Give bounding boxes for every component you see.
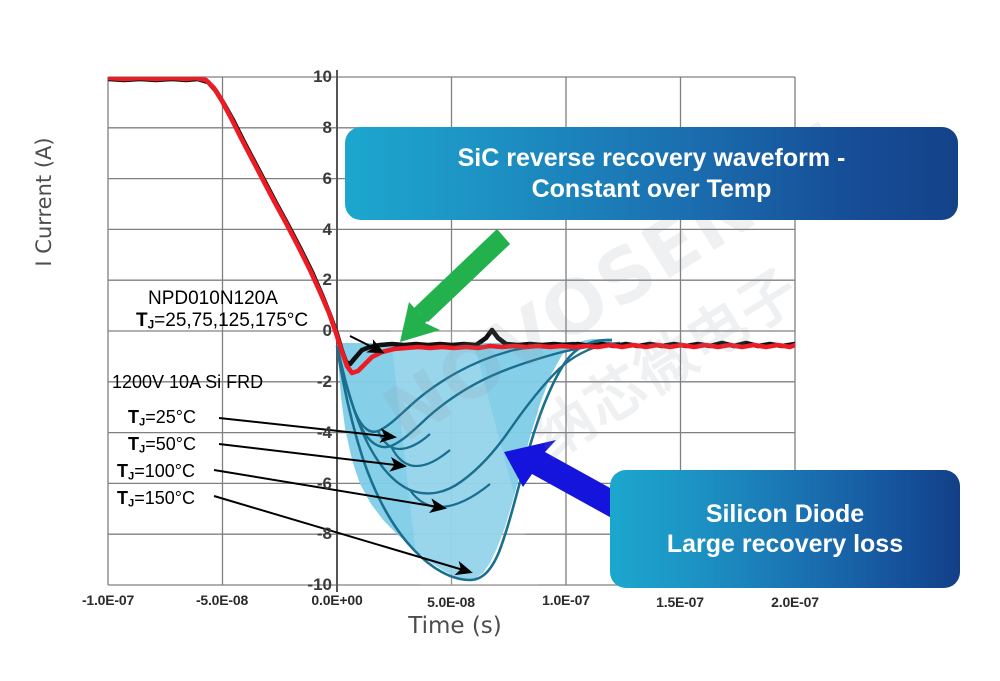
x-tick-1_5e-7: 1.5E-07 <box>620 594 740 610</box>
x-tick-5e-8: 5.0E-08 <box>391 594 511 610</box>
y-tick-neg6: -6 <box>288 474 332 494</box>
x-tick-0: 0.0E+00 <box>277 592 397 608</box>
x-tick-neg5e-8: -5.0E-08 <box>162 592 282 608</box>
y-tick-6: 6 <box>288 169 332 189</box>
tj100-prefix: T <box>117 461 128 481</box>
reverse-recovery-chart: NOVOSENSE 纳芯微电子 I Current (A) Time (s) 1… <box>0 0 1000 672</box>
callout-silicon-diode[interactable]: Silicon Diode Large recovery loss <box>610 470 960 588</box>
device-annotation: NPD010N120A TJ=25,75,125,175°C <box>148 288 308 332</box>
x-tick-neg1e-7: -1.0E-07 <box>48 592 168 608</box>
callout-si-line1: Silicon Diode <box>667 499 903 530</box>
tj50-value: =50°C <box>145 434 196 454</box>
si-frd-header: 1200V 10A Si FRD <box>112 372 263 393</box>
si-label-tj50: TJ=50°C <box>128 434 196 455</box>
callout-si-line2: Large recovery loss <box>667 529 903 560</box>
y-tick-neg8: -8 <box>288 524 332 544</box>
device-part-number: NPD010N120A <box>148 288 278 309</box>
tj150-prefix: T <box>117 488 128 508</box>
tj-values: =25,75,125,175°C <box>154 310 308 331</box>
device-temperatures: TJ=25,75,125,175°C <box>136 310 308 332</box>
tj100-value: =100°C <box>134 461 195 481</box>
si-label-tj150: TJ=150°C <box>117 488 195 509</box>
y-tick-2: 2 <box>288 270 332 290</box>
y-tick-neg2: -2 <box>288 372 332 392</box>
y-tick-8: 8 <box>288 118 332 138</box>
callout-sic[interactable]: SiC reverse recovery waveform - Constant… <box>345 127 958 220</box>
si-label-tj100: TJ=100°C <box>117 461 195 482</box>
x-tick-2e-7: 2.0E-07 <box>735 594 855 610</box>
x-axis-title: Time (s) <box>330 613 580 639</box>
si-label-tj25: TJ=25°C <box>128 407 196 428</box>
y-tick-neg4: -4 <box>288 423 332 443</box>
y-tick-4: 4 <box>288 220 332 240</box>
y-tick-10: 10 <box>288 67 332 87</box>
callout-sic-line2: Constant over Temp <box>458 174 846 205</box>
tj50-prefix: T <box>128 434 139 454</box>
tj-prefix: T <box>136 310 148 331</box>
x-tick-1e-7: 1.0E-07 <box>506 592 626 608</box>
tj150-value: =150°C <box>134 488 195 508</box>
tj25-value: =25°C <box>145 407 196 427</box>
tj25-prefix: T <box>128 407 139 427</box>
callout-sic-line1: SiC reverse recovery waveform - <box>458 143 846 174</box>
